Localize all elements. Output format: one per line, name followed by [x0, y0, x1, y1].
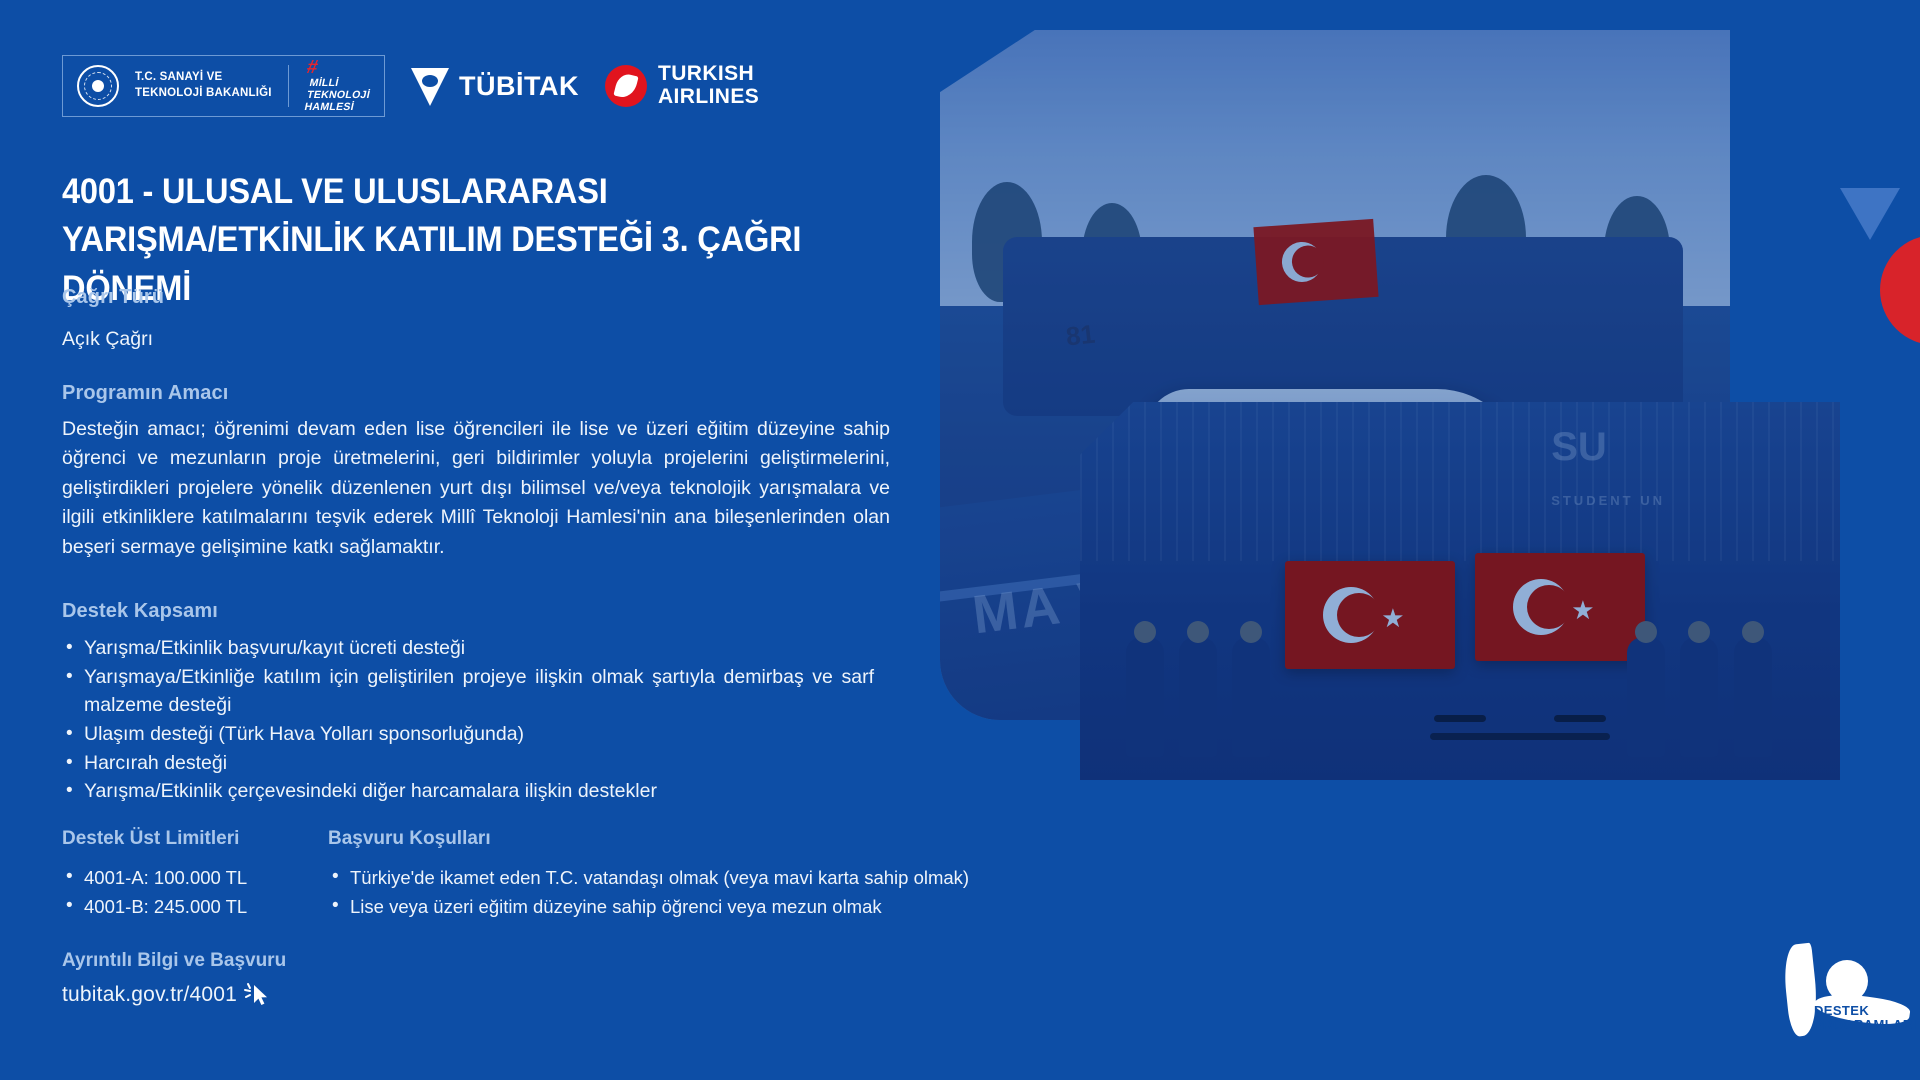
thy-line-1: TURKISH — [658, 63, 759, 86]
destek-ust-limitleri-heading: Destek Üst Limitleri — [62, 828, 290, 850]
programin-amaci-text: Desteğin amacı; öğrenimi devam eden lise… — [62, 415, 890, 562]
limits-and-conditions-row: Destek Üst Limitleri 4001-A: 100.000 TL … — [62, 828, 1088, 922]
programin-amaci-heading: Programın Amacı — [62, 382, 890, 405]
hash-icon: # — [305, 58, 372, 77]
section-ayrintili-bilgi: Ayrıntılı Bilgi ve Başvuru tubitak.gov.t… — [62, 950, 286, 1010]
dp-line-1: DESTEK — [1814, 1004, 1917, 1018]
destek-programlari-text: DESTEK PROGRAMLARI — [1814, 1004, 1917, 1031]
thy-line-2: AIRLINES — [658, 86, 759, 109]
click-cursor-icon — [243, 980, 273, 1010]
tubitak-wordmark: TÜBİTAK — [459, 71, 579, 102]
basvuru-kosullari-heading: Başvuru Koşulları — [328, 828, 1088, 850]
list-item: Harcırah desteği — [62, 750, 902, 778]
destek-kapsami-list: Yarışma/Etkinlik başvuru/kayıt ücreti de… — [62, 635, 902, 806]
republic-seal-icon — [77, 65, 119, 107]
list-item: 4001-B: 245.000 TL — [62, 893, 290, 921]
list-item: Lise veya üzeri eğitim düzeyine sahip öğ… — [328, 893, 1088, 921]
section-destek-ust-limitleri: Destek Üst Limitleri 4001-A: 100.000 TL … — [62, 828, 290, 922]
section-programin-amaci: Programın Amacı Desteğin amacı; öğrenimi… — [62, 382, 890, 562]
section-basvuru-kosullari: Başvuru Koşulları Türkiye'de ikamet eden… — [328, 828, 1088, 922]
list-item: Yarışma/Etkinlik başvuru/kayıt ücreti de… — [62, 635, 902, 663]
list-item: Yarışma/Etkinlik çerçevesindeki diğer ha… — [62, 778, 902, 806]
photo-drone-team: ★ ★ SU STUDENT UN — [1080, 402, 1840, 780]
destek-ust-limitleri-list: 4001-A: 100.000 TL 4001-B: 245.000 TL — [62, 864, 290, 921]
destek-kapsami-heading: Destek Kapsamı — [62, 600, 902, 623]
ministry-logo-text: T.C. SANAYİ VE TEKNOLOJİ BAKANLIĞI — [135, 70, 272, 101]
list-item: Ulaşım desteği (Türk Hava Yolları sponso… — [62, 721, 902, 749]
turkish-airlines-bird-icon — [605, 65, 647, 107]
poster-canvas: 81 MA VILLE ★ ★ — [0, 0, 1920, 1080]
tubitak-mark-icon — [411, 66, 449, 106]
basvuru-kosullari-list: Türkiye'de ikamet eden T.C. vatandaşı ol… — [328, 864, 1088, 921]
cagri-turu-heading: Çağrı Türü — [62, 286, 164, 309]
sponsor-logo-bar: T.C. SANAYİ VE TEKNOLOJİ BAKANLIĞI # MİL… — [62, 55, 759, 117]
ministry-line-2: TEKNOLOJİ BAKANLIĞI — [135, 86, 272, 102]
tubitak-logo-block: TÜBİTAK — [411, 66, 579, 106]
destek-programlari-logo: DESTEK PROGRAMLARI — [1778, 938, 1918, 1050]
cagri-turu-value: Açık Çağrı — [62, 325, 164, 354]
dp-line-2: PROGRAMLARI — [1814, 1018, 1917, 1032]
turkish-airlines-logo-block: TURKISH AIRLINES — [605, 63, 759, 108]
url-row[interactable]: tubitak.gov.tr/4001 — [62, 980, 286, 1010]
photo-collage: 81 MA VILLE ★ ★ — [940, 30, 1920, 960]
milli-teknoloji-hamlesi-logo: # MİLLİ TEKNOLOJİ HAMLESİ — [305, 58, 370, 113]
section-destek-kapsami: Destek Kapsamı Yarışma/Etkinlik başvuru/… — [62, 600, 902, 807]
ayrintili-bilgi-heading: Ayrıntılı Bilgi ve Başvuru — [62, 950, 286, 972]
turkish-airlines-wordmark: TURKISH AIRLINES — [658, 63, 759, 108]
logo-divider — [288, 65, 290, 107]
mth-line-3: HAMLESİ — [303, 102, 368, 114]
ministry-line-1: T.C. SANAYİ VE — [135, 70, 272, 86]
ministry-logo-block: T.C. SANAYİ VE TEKNOLOJİ BAKANLIĞI # MİL… — [62, 55, 385, 117]
page-title: 4001 - ULUSAL VE ULUSLARARASI YARIŞMA/ET… — [62, 168, 843, 313]
content-column: T.C. SANAYİ VE TEKNOLOJİ BAKANLIĞI # MİL… — [0, 0, 1060, 1080]
list-item: 4001-A: 100.000 TL — [62, 864, 290, 892]
application-url-link[interactable]: tubitak.gov.tr/4001 — [62, 983, 237, 1007]
section-cagri-turu: Çağrı Türü Açık Çağrı — [62, 286, 164, 354]
list-item: Yarışmaya/Etkinliğe katılım için gelişti… — [62, 664, 874, 720]
list-item: Türkiye'de ikamet eden T.C. vatandaşı ol… — [328, 864, 1088, 892]
